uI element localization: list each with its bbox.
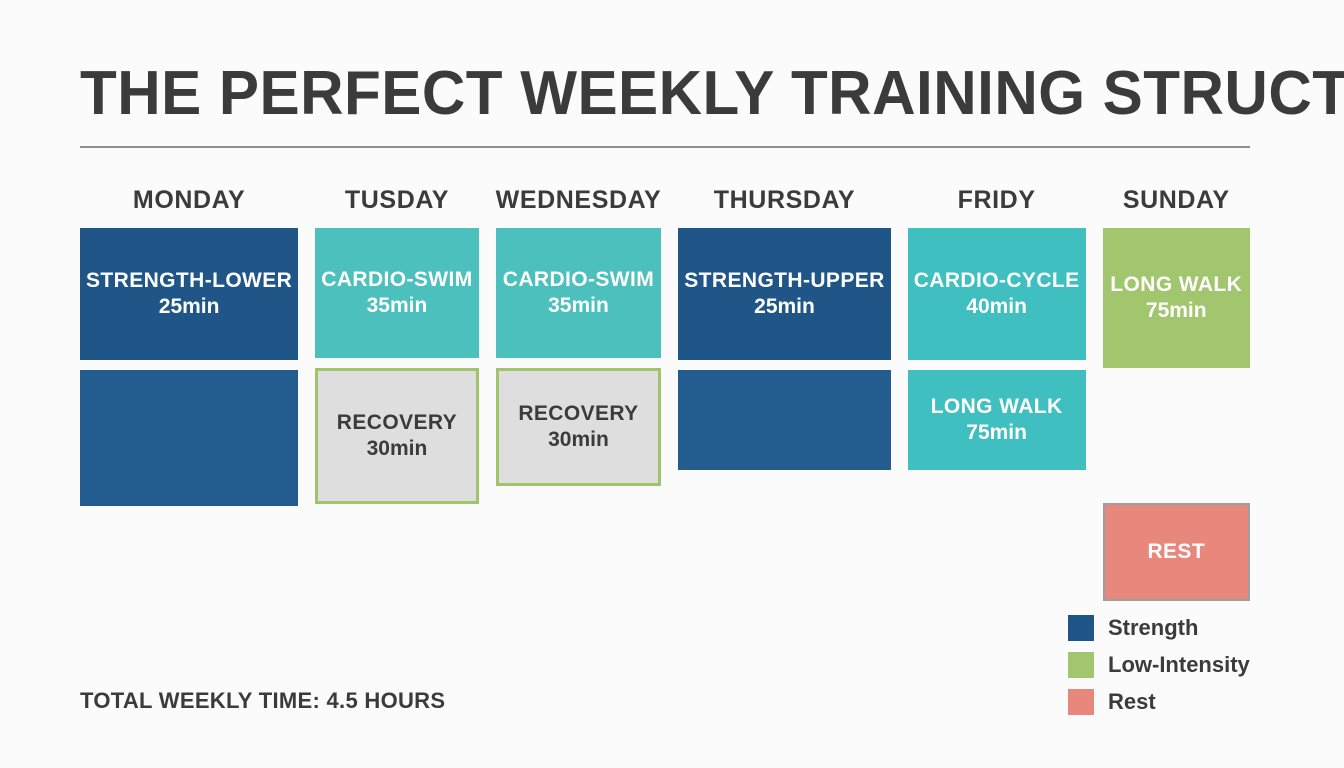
column-spacer [1103, 378, 1250, 493]
session-title: LONG WALK [931, 394, 1063, 420]
day-header-monday: MONDAY [80, 180, 298, 228]
session-duration: 30min [548, 427, 609, 453]
legend-item: Rest [1068, 689, 1250, 715]
day-header-fridy: FRIDY [908, 180, 1086, 228]
session-card[interactable] [80, 370, 298, 506]
session-card[interactable]: CARDIO-CYCLE40min [908, 228, 1086, 360]
session-duration: 35min [548, 293, 609, 319]
day-columns: MONDAYSTRENGTH-LOWER25minTUSDAYCARDIO-SW… [80, 180, 1250, 611]
session-card[interactable]: CARDIO-SWIM35min [496, 228, 662, 358]
legend-item: Low-Intensity [1068, 652, 1250, 678]
day-header-thursday: THURSDAY [678, 180, 890, 228]
session-card[interactable]: CARDIO-SWIM35min [315, 228, 478, 358]
day-column-wednesday: WEDNESDAYCARDIO-SWIM35minRECOVERY30min [496, 180, 662, 611]
day-column-monday: MONDAYSTRENGTH-LOWER25min [80, 180, 298, 611]
legend-swatch-icon [1068, 689, 1094, 715]
session-card[interactable]: STRENGTH-LOWER25min [80, 228, 298, 360]
title-divider [80, 146, 1250, 148]
session-duration: 35min [367, 293, 428, 319]
legend: StrengthLow-IntensityRest [1068, 615, 1250, 715]
day-column-tusday: TUSDAYCARDIO-SWIM35minRECOVERY30min [315, 180, 478, 611]
total-weekly-time: TOTAL WEEKLY TIME: 4.5 HOURS [80, 688, 445, 714]
session-title: CARDIO-CYCLE [914, 268, 1080, 294]
legend-swatch-icon [1068, 615, 1094, 641]
day-header-sunday: SUNDAY [1103, 180, 1250, 228]
day-header-tusday: TUSDAY [315, 180, 478, 228]
session-title: RECOVERY [337, 410, 457, 436]
weekly-schedule-grid: MONDAYSTRENGTH-LOWER25minTUSDAYCARDIO-SW… [80, 180, 1250, 611]
session-card[interactable]: RECOVERY30min [315, 368, 478, 504]
day-column-thursday: THURSDAYSTRENGTH-UPPER25min [678, 180, 890, 611]
legend-label: Low-Intensity [1108, 652, 1250, 678]
session-title: LONG WALK [1110, 272, 1242, 298]
session-card[interactable]: STRENGTH-UPPER25min [678, 228, 890, 360]
day-column-fridy: FRIDYCARDIO-CYCLE40minLONG WALK75min [908, 180, 1086, 611]
legend-item: Strength [1068, 615, 1250, 641]
day-header-wednesday: WEDNESDAY [496, 180, 662, 228]
session-card[interactable]: RECOVERY30min [496, 368, 662, 486]
session-duration: 40min [966, 294, 1027, 320]
session-title: STRENGTH-UPPER [684, 268, 884, 294]
session-title: CARDIO-SWIM [321, 267, 472, 293]
session-card[interactable]: LONG WALK75min [1103, 228, 1250, 368]
session-duration: 75min [966, 420, 1027, 446]
session-card[interactable]: LONG WALK75min [908, 370, 1086, 470]
infographic-canvas: THE PERFECT WEEKLY TRAINING STRUCTURE MO… [0, 0, 1344, 768]
session-duration: 25min [754, 294, 815, 320]
session-card[interactable] [678, 370, 890, 470]
page-title: THE PERFECT WEEKLY TRAINING STRUCTURE [80, 58, 1344, 130]
session-title: REST [1147, 539, 1205, 565]
day-column-sunday: SUNDAYLONG WALK75minREST [1103, 180, 1250, 611]
session-title: RECOVERY [518, 401, 638, 427]
session-duration: 25min [159, 294, 220, 320]
session-duration: 75min [1146, 298, 1207, 324]
session-title: CARDIO-SWIM [503, 267, 654, 293]
legend-label: Rest [1108, 689, 1156, 715]
session-duration: 30min [367, 436, 428, 462]
legend-label: Strength [1108, 615, 1198, 641]
session-title: STRENGTH-LOWER [86, 268, 292, 294]
session-card[interactable]: REST [1103, 503, 1250, 601]
legend-swatch-icon [1068, 652, 1094, 678]
